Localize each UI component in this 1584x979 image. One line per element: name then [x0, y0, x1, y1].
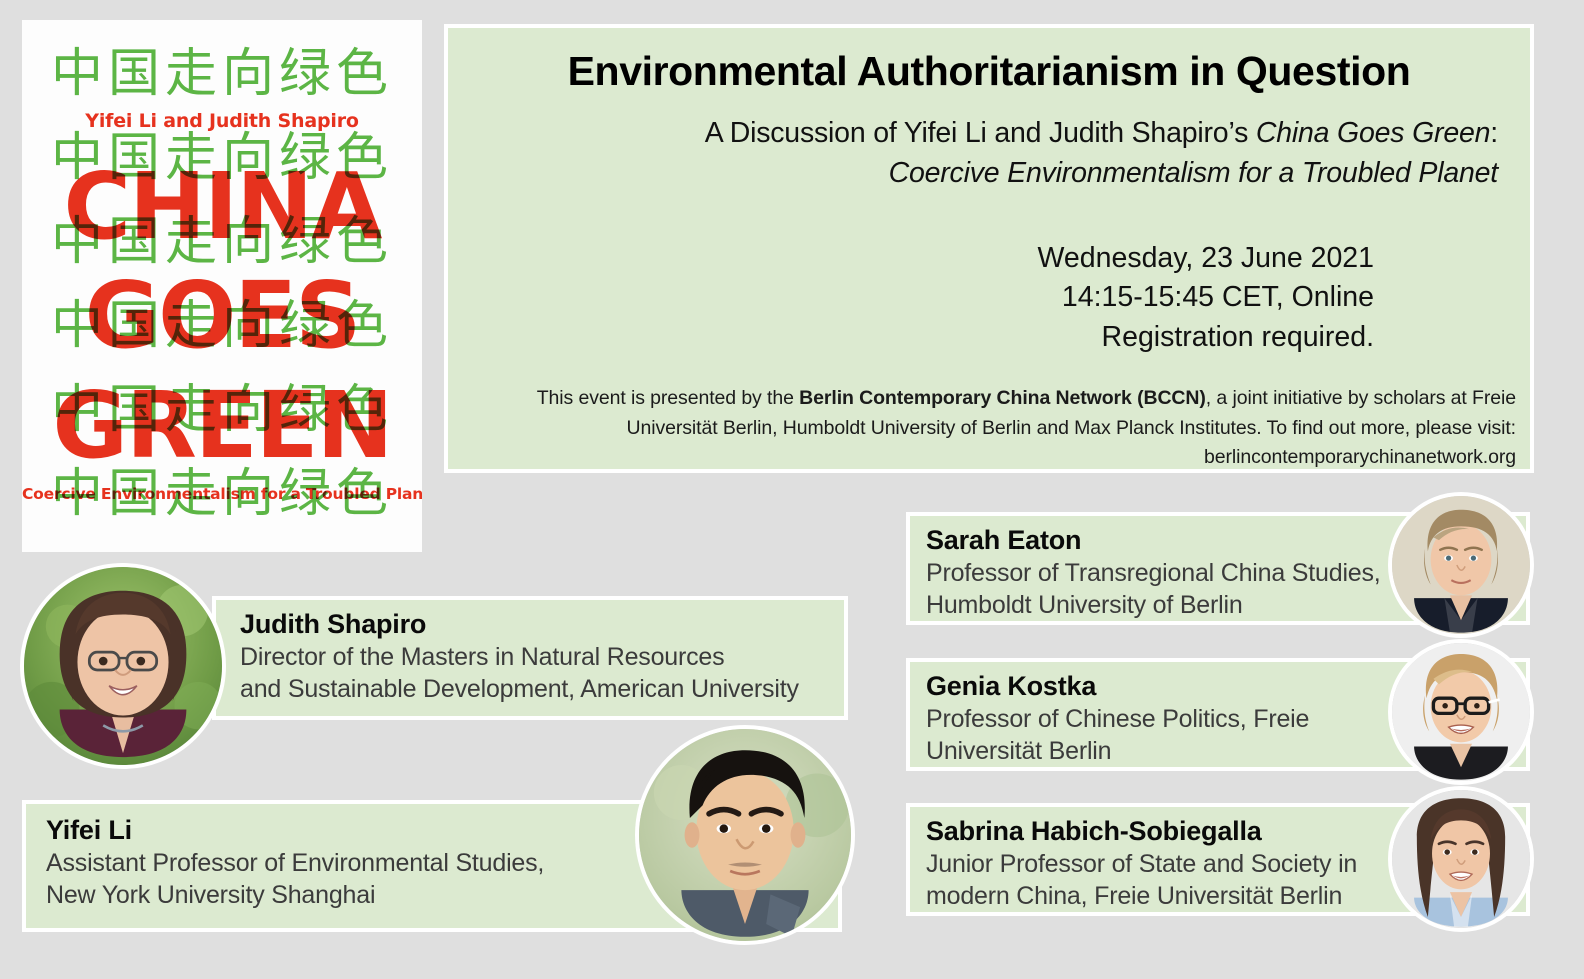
speaker-role-line: Director of the Masters in Natural Resou…	[240, 641, 844, 673]
portrait-graphic	[1392, 790, 1530, 928]
cover-subtitle: Coercive Environmentalism for a Troubled…	[22, 485, 422, 503]
portrait-graphic	[639, 729, 851, 941]
portrait-graphic	[1392, 643, 1530, 781]
event-subtitle-book-title: China Goes Green	[1256, 117, 1490, 149]
portrait-graphic	[1392, 496, 1530, 634]
event-footnote: This event is presented by the Berlin Co…	[488, 384, 1516, 473]
event-registration: Registration required.	[1038, 318, 1374, 357]
event-details: Wednesday, 23 June 2021 14:15-15:45 CET,…	[1038, 239, 1374, 357]
speaker-name: Judith Shapiro	[240, 608, 844, 641]
cover-chinese-row: 中国走向绿色	[34, 48, 410, 100]
book-cover-artwork: 中国走向绿色 中国走向绿色 中国走向绿色 中国走向绿色 中国走向绿色 中国走向绿…	[22, 20, 422, 552]
footnote-part-1: This event is presented by the	[537, 387, 799, 409]
book-cover-image: 中国走向绿色 中国走向绿色 中国走向绿色 中国走向绿色 中国走向绿色 中国走向绿…	[22, 20, 422, 552]
portrait-graphic	[24, 567, 222, 765]
event-subtitle-plain-1: A Discussion of Yifei Li and Judith Shap…	[705, 117, 1256, 149]
speaker-panel-shapiro: Judith Shapiro Director of the Masters i…	[212, 596, 848, 720]
event-subtitle-book-subtitle: Coercive Environmentalism for a Troubled…	[889, 157, 1498, 189]
portrait-yifei-li	[635, 725, 855, 945]
event-title: Environmental Authoritarianism in Questi…	[468, 49, 1510, 95]
cover-title-goes: GOES	[22, 262, 422, 369]
cover-title-china: CHINA	[22, 153, 422, 260]
event-time: 14:15-15:45 CET, Online	[1038, 278, 1374, 317]
event-date: Wednesday, 23 June 2021	[1038, 239, 1374, 278]
event-poster: 中国走向绿色 中国走向绿色 中国走向绿色 中国走向绿色 中国走向绿色 中国走向绿…	[0, 0, 1584, 979]
portrait-sabrina-habich-sobiegalla	[1388, 786, 1534, 932]
speaker-role-line: and Sustainable Development, American Un…	[240, 673, 844, 705]
portrait-genia-kostka	[1388, 639, 1534, 785]
event-subtitle: A Discussion of Yifei Li and Judith Shap…	[488, 113, 1498, 194]
portrait-judith-shapiro	[20, 563, 226, 769]
portrait-sarah-eaton	[1388, 492, 1534, 638]
header-panel: Environmental Authoritarianism in Questi…	[444, 24, 1534, 473]
footnote-organiser: Berlin Contemporary China Network (BCCN)	[799, 387, 1206, 409]
cover-title-green: GREEN	[22, 372, 422, 479]
cover-authors: Yifei Li and Judith Shapiro	[22, 110, 422, 132]
event-subtitle-plain-2: :	[1490, 117, 1498, 149]
